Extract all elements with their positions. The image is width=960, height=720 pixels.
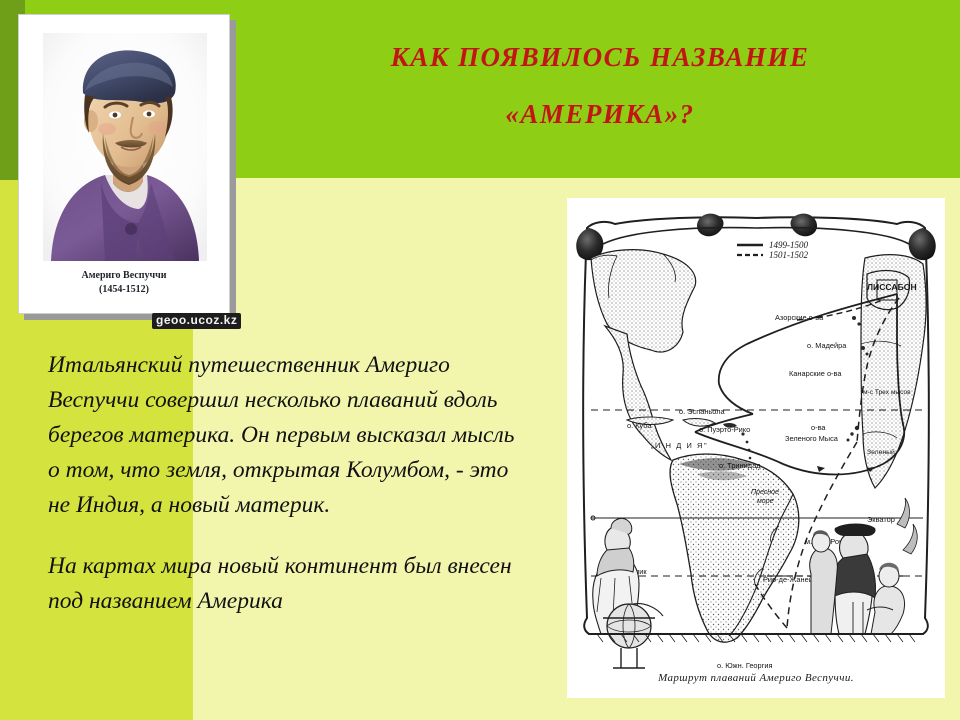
- portrait-illustration: [43, 33, 207, 261]
- svg-text:Канарские о-ва: Канарские о-ва: [789, 369, 842, 378]
- svg-text:о. Тринидад: о. Тринидад: [719, 461, 761, 470]
- portrait-caption: Америго Веспуччи (1454-1512): [19, 269, 229, 296]
- svg-text:о-ва: о-ва: [811, 423, 826, 432]
- title-line-2: «АМЕРИКА»?: [300, 101, 900, 128]
- svg-text:Экватор: Экватор: [867, 515, 895, 524]
- svg-text:о. Мадейра: о. Мадейра: [807, 341, 847, 350]
- svg-text:м-с Трех мысов: м-с Трех мысов: [863, 389, 911, 396]
- svg-text:Зеленого Мыса: Зеленого Мыса: [785, 434, 839, 443]
- svg-text:Азорские о-ва: Азорские о-ва: [775, 313, 824, 322]
- body-paragraph-2: На картах мира новый континент был внесе…: [48, 549, 528, 619]
- body-paragraph-1: Итальянский путешественник Америго Веспу…: [48, 348, 528, 523]
- portrait-image-amerigo-vespucci: [43, 33, 207, 261]
- svg-text:Зеленый: Зеленый: [867, 448, 895, 456]
- svg-text:о. Куба: о. Куба: [627, 421, 652, 430]
- title-line-1: КАК ПОЯВИЛОСЬ НАЗВАНИЕ: [300, 44, 900, 71]
- svg-text:ЛИССАБОН: ЛИССАБОН: [867, 282, 917, 292]
- map-figure-vespucci-routes: 1499-1500 1501-1502 ЛИССАБОН Азорские о-…: [567, 198, 945, 698]
- svg-text:о. Эспаньола: о. Эспаньола: [679, 407, 726, 416]
- svg-text:1501-1502: 1501-1502: [769, 250, 808, 260]
- slide-title: КАК ПОЯВИЛОСЬ НАЗВАНИЕ «АМЕРИКА»?: [300, 44, 900, 128]
- portrait-caption-name: Америго Веспуччи: [19, 269, 229, 283]
- watermark-label: geoo.ucoz.kz: [152, 313, 241, 329]
- body-text-block: Итальянский путешественник Америго Веспу…: [48, 348, 528, 619]
- map-illustration: 1499-1500 1501-1502 ЛИССАБОН Азорские о-…: [567, 198, 945, 698]
- svg-text:о. Южн. Георгия: о. Южн. Георгия: [717, 661, 772, 670]
- svg-text:море: море: [757, 498, 774, 505]
- portrait-caption-dates: (1454-1512): [19, 283, 229, 297]
- map-caption: Маршрут плаваний Америго Веспуччи.: [567, 672, 945, 684]
- svg-text:о. Пуэрто-Рико: о. Пуэрто-Рико: [699, 425, 750, 434]
- svg-text:1499-1500: 1499-1500: [769, 240, 808, 250]
- slide-root: КАК ПОЯВИЛОСЬ НАЗВАНИЕ «АМЕРИКА»?: [0, 0, 960, 720]
- portrait-card: Америго Веспуччи (1454-1512): [18, 14, 230, 314]
- svg-text:„И Н Д И Я": „И Н Д И Я": [651, 441, 708, 450]
- svg-text:Пресное: Пресное: [751, 489, 779, 496]
